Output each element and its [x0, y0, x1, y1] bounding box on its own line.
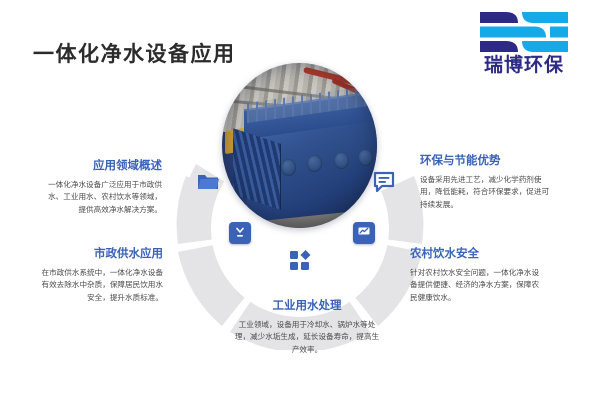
section-title-environmental: 环保与节能优势 [420, 155, 550, 169]
section-block-environmental: 环保与节能优势 设备采用先进工艺，减少化学药剂使用，降低能耗，符合环保要求，促进… [420, 155, 550, 211]
center-equipment-photo [222, 63, 377, 228]
section-body-municipal: 在市政供水系统中，一体化净水设备有效去除水中杂质，保障居民饮用水安全，提升水质标… [38, 267, 163, 305]
section-title-industrial: 工业用水处理 [232, 300, 382, 314]
section-block-industrial: 工业用水处理 工业领域，设备用于冷却水、锅炉水等处理，减少水垢生成，延长设备寿命… [232, 300, 382, 356]
photo-vignette [222, 63, 377, 228]
section-body-rural: 针对农村饮水安全问题，一体化净水设备提供便捷、经济的净水方案，保障农民健康饮水。 [410, 267, 545, 305]
three-bar-wave-logo-icon [478, 10, 570, 54]
message-lines-icon [373, 170, 397, 194]
brand-logo: 瑞博环保 [464, 10, 584, 75]
section-body-industrial: 工业领域，设备用于冷却水、锅炉水等处理，减少水垢生成，延长设备寿命，提高生产效率… [232, 319, 382, 357]
section-block-municipal: 市政供水应用 在市政供水系统中，一体化净水设备有效去除水中杂质，保障居民饮用水安… [38, 248, 163, 304]
document-card-icon [229, 222, 251, 244]
folder-icon [196, 170, 220, 194]
section-body-overview: 一体化净水设备广泛应用于市政供水、工业用水、农村饮水等领域，提供高效净水解决方案… [42, 179, 162, 217]
monitor-chart-icon [353, 222, 375, 244]
section-title-overview: 应用领域概述 [42, 160, 162, 174]
section-block-rural: 农村饮水安全 针对农村饮水安全问题，一体化净水设备提供便捷、经济的净水方案，保障… [410, 248, 545, 304]
page-title: 一体化净水设备应用 [33, 38, 236, 68]
infographic-canvas: 一体化净水设备应用 瑞博环保 [0, 0, 600, 400]
section-body-environmental: 设备采用先进工艺，减少化学药剂使用，降低能耗，符合环保要求，促进可持续发展。 [420, 174, 550, 212]
section-block-overview: 应用领域概述 一体化净水设备广泛应用于市政供水、工业用水、农村饮水等领域，提供高… [42, 160, 162, 216]
section-title-municipal: 市政供水应用 [38, 248, 163, 262]
grid-squares-icon [288, 248, 312, 272]
equipment-photo-layers [222, 63, 377, 228]
section-title-rural: 农村饮水安全 [410, 248, 545, 262]
brand-name: 瑞博环保 [464, 56, 584, 75]
